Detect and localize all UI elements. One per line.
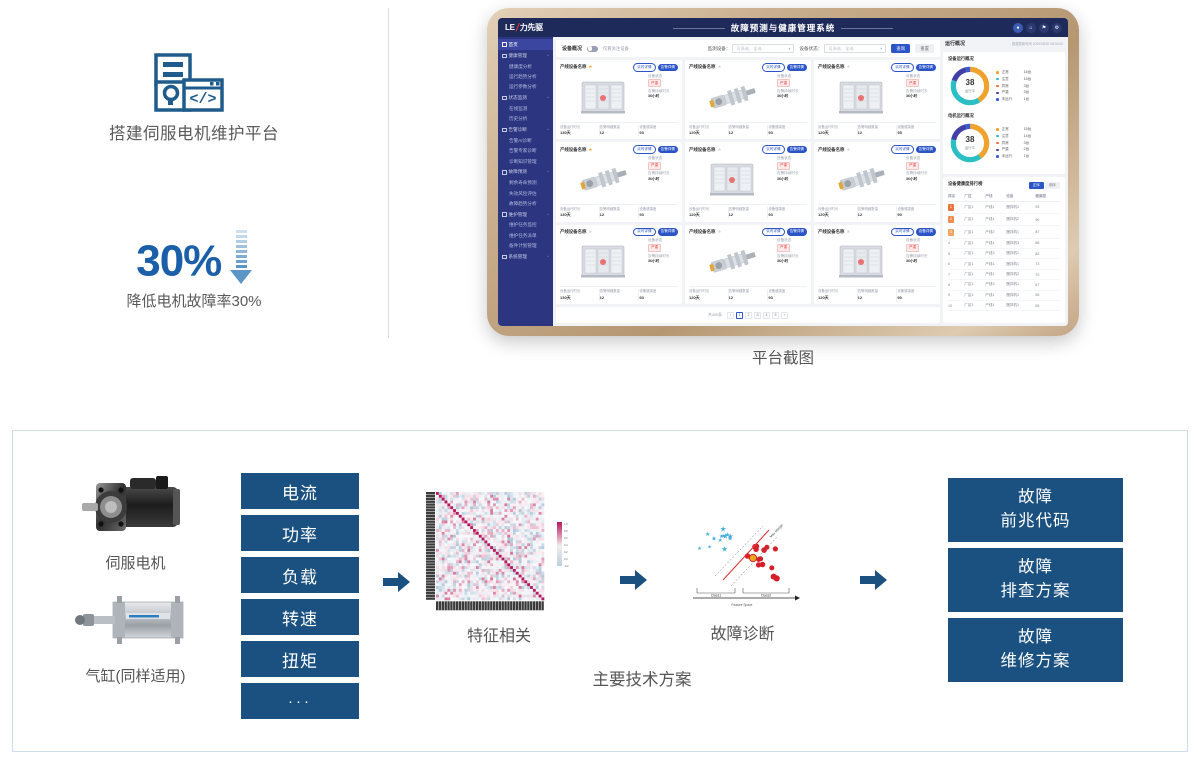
sidebar-nav[interactable]: 首页健康管理^健康度分析运行趋势分析运行参数分析状态监测^在线监测历史分析告警诊… [498, 37, 553, 326]
duration-value: 36小时 [777, 259, 807, 264]
device-name: 产线设备名称 [689, 229, 715, 235]
device-stat-value: 12 [600, 212, 637, 218]
device-card-body: 设备状态 严重 告警持续时长 36小时 [818, 156, 936, 202]
cell-line: 产线1 [985, 259, 1006, 269]
status-label: 设备状态 [906, 156, 936, 161]
device-card-footer: 设备运行时长130天告警明细数量12设备健康度93 [560, 286, 678, 301]
device-card[interactable]: 产线设备名称 ★ 实时详情 告警详情 设备状态 严重 告警持续时长 36小时 [685, 225, 811, 304]
device-status-block: 设备状态 严重 告警持续时长 36小时 [648, 156, 678, 202]
favorite-star-icon[interactable]: ★ [717, 64, 721, 70]
donut-section-title-2: 电机运行概况 [948, 113, 1060, 119]
donut-legend-1: 正常 16台 注意 15台 异常 3台 严重 3台 未运行 1台 [996, 69, 1060, 103]
alarm-detail-button[interactable]: 告警详情 [658, 64, 678, 72]
table-row[interactable]: 6 厂区1 产线1 搅拌机1 73 [948, 259, 1060, 269]
legend-value: 16台 [1024, 69, 1032, 76]
heart-icon [502, 54, 507, 59]
device-card[interactable]: 产线设备名称 ★ 实时详情 告警详情 设备状态 严重 告警持续时长 36小时 [556, 142, 682, 221]
svg-text:0.4: 0.4 [564, 543, 568, 547]
stat-caption: 降低电机故障率30% [0, 290, 388, 311]
sidebar-item[interactable]: 状态监测^ [498, 93, 553, 104]
status-badge: 严重 [906, 244, 919, 252]
device-status-block: 设备状态 严重 告警持续时长 36小时 [777, 156, 807, 202]
cell-plant: 厂区1 [964, 280, 985, 290]
cell-device: 搅拌机3 [1006, 238, 1035, 248]
svg-text:0.6: 0.6 [564, 536, 568, 540]
legend-value: 3台 [1024, 89, 1030, 96]
sidebar-subitem[interactable]: 剩余寿命预测 [498, 178, 553, 188]
favorite-star-icon[interactable]: ★ [846, 147, 850, 153]
realtime-detail-button[interactable]: 实时详情 [891, 228, 913, 237]
pagination-page[interactable]: 5 [772, 312, 779, 319]
sidebar-subitem[interactable]: 健康度分析 [498, 61, 553, 71]
table-row[interactable]: 5 厂区1 产线3 搅拌机1 82 [948, 249, 1060, 259]
device-stat-value: 120天 [689, 295, 726, 301]
device-card[interactable]: 产线设备名称 ★ 实时详情 告警详情 设备状态 严重 [556, 60, 682, 139]
device-stat: 设备运行时长120天 [689, 125, 729, 137]
svg-text:Class1: Class1 [711, 594, 721, 598]
table-row[interactable]: 2 厂区1 产线1 搅拌机2 90 [948, 213, 1060, 225]
alarm-detail-button[interactable]: 告警详情 [787, 146, 807, 154]
sidebar-subitem[interactable]: 维护任务监控 [498, 220, 553, 230]
cell-health: 70 [1035, 269, 1060, 279]
svg-text:★: ★ [707, 545, 712, 551]
device-card-footer: 设备运行时长120天告警明细数量12设备健康度93 [689, 204, 807, 219]
cell-device: 搅拌机2 [1006, 269, 1035, 279]
device-card-header: 产线设备名称 ★ 实时详情 告警详情 [818, 145, 936, 154]
device-card-body: 设备状态 严重 告警持续时长 36小时 [689, 156, 807, 202]
search-button[interactable]: 查询 [891, 44, 910, 53]
table-row[interactable]: 10 厂区1 产线1 搅拌机1 65 [948, 300, 1060, 310]
legend-item: 异常 3台 [996, 83, 1060, 90]
legend-color-dot [996, 85, 999, 88]
svg-text:0.2: 0.2 [564, 550, 568, 554]
cell-plant: 厂区1 [964, 300, 985, 310]
device-stat: 设备健康度93 [639, 289, 678, 301]
device-stat: 设备健康度93 [768, 125, 807, 137]
device-image [689, 238, 774, 284]
correlation-heatmap: 1.00.80.60.40.20.0-0.2 [424, 486, 574, 621]
output-line-2: 排查方案 [1001, 580, 1071, 604]
svm-classification-scatter: ★★★★★★★★★★★★★Max MarginClass1Class2Featu… [683, 524, 801, 617]
sidebar-subitem[interactable]: 运行参数分析 [498, 82, 553, 92]
stage-caption-feature: 特征相关 [424, 622, 574, 646]
device-card[interactable]: 产线设备名称 ★ 实时详情 告警详情 设备状态 严重 [685, 142, 811, 221]
pagination-page[interactable]: 3 [754, 312, 761, 319]
device-card[interactable]: 产线设备名称 ★ 实时详情 告警详情 设备状态 严重 [556, 225, 682, 304]
duration-value: 36小时 [648, 94, 678, 99]
device-stat: 设备健康度95 [897, 125, 936, 137]
favorite-star-icon[interactable]: ★ [588, 147, 592, 153]
ranking-table: 排名厂区产线设备健康度 1 厂区1 产线1 搅拌机1 932 厂区1 产线1 搅… [948, 192, 1060, 311]
device-card-footer: 设备运行时长120天告警明细数量12设备健康度90 [818, 286, 936, 301]
device-stat: 告警明细数量12 [858, 289, 898, 301]
sidebar-subitem[interactable]: 历史分析 [498, 114, 553, 124]
sidebar-subitem[interactable]: 失效风险评估 [498, 188, 553, 198]
sidebar-item-label: 状态监测 [509, 95, 527, 101]
sidebar-subitem[interactable]: 故障趋势分析 [498, 199, 553, 209]
table-row[interactable]: 9 厂区1 产线1 搅拌机1 56 [948, 290, 1060, 300]
table-column-header: 厂区 [964, 192, 985, 201]
status-label: 设备状态 [777, 156, 807, 161]
table-column-header: 健康度 [1035, 192, 1060, 201]
device-card-footer: 设备运行时长120天告警明细数量12设备健康度90 [818, 204, 936, 219]
chevron-up-icon: ^ [547, 128, 549, 132]
sidebar-subitem[interactable]: 运行趋势分析 [498, 72, 553, 82]
pagination-next[interactable]: › [781, 312, 788, 319]
favorite-star-icon[interactable]: ★ [846, 229, 850, 235]
table-row[interactable]: 7 厂区1 产线1 搅拌机2 70 [948, 269, 1060, 279]
output-list: 故障前兆代码故障排查方案故障维修方案 [948, 478, 1123, 682]
ranking-tabs[interactable]: 正序 倒序 [1029, 182, 1060, 189]
pagination-prev[interactable]: ‹ [727, 312, 734, 319]
app-header: LE / 力先驱 故障预测与健康管理系统 ● ⌂ ⚑ ⚙ [498, 18, 1068, 37]
realtime-detail-button[interactable]: 实时详情 [762, 228, 784, 237]
cell-device: 搅拌机1 [1006, 300, 1035, 310]
device-stat-value: 120天 [689, 212, 726, 218]
device-card-header: 产线设备名称 ★ 实时详情 告警详情 [689, 63, 807, 72]
cards-column: 设备概况 仅看关注设备 监测设备： 可多选、全选 ▾ [553, 37, 943, 326]
status-badge: 严重 [906, 79, 919, 87]
cell-plant: 厂区1 [964, 290, 985, 300]
cell-health: 82 [1035, 249, 1060, 259]
stat-value: 30% [136, 237, 221, 286]
cell-line: 产线1 [985, 300, 1006, 310]
table-row[interactable]: 8 厂区1 产线3 搅拌机1 67 [948, 280, 1060, 290]
status-filter-label: 设备状态： [799, 46, 822, 52]
cell-rank: 6 [948, 259, 964, 269]
realtime-detail-button[interactable]: 实时详情 [633, 145, 655, 154]
device-select-value: 可多选、全选 [736, 46, 761, 52]
device-card[interactable]: 产线设备名称 ★ 实时详情 告警详情 设备状态 严重 告警持续时长 36小时 [814, 142, 940, 221]
top-section: </> 搭建伺服电机维护平台 30% 降低电机故障率30% [0, 0, 1198, 390]
pagination-page[interactable]: 2 [745, 312, 752, 319]
device-status-block: 设备状态 严重 告警持续时长 36小时 [906, 74, 936, 120]
alarm-detail-button[interactable]: 设备详情 [916, 228, 936, 236]
device-name: 产线设备名称 [560, 64, 586, 70]
duration-value: 36小时 [906, 94, 936, 99]
pagination-total: 共400条 [708, 313, 722, 318]
legend-item: 注意 14台 [996, 133, 1060, 140]
device-status-donut: 38 运行中 [948, 64, 992, 108]
favorite-star-icon[interactable]: ★ [717, 229, 721, 235]
device-card-body: 设备状态 严重 告警持续时长 36小时 [560, 238, 678, 284]
duration-value: 36小时 [648, 177, 678, 182]
sidebar-item[interactable]: 健康管理^ [498, 50, 553, 61]
favorite-star-icon[interactable]: ★ [846, 64, 850, 70]
output-line-1: 故障 [1018, 486, 1053, 510]
parameter-list: 电流功率负载转速扭矩··· [241, 473, 359, 719]
sidebar-item[interactable]: 故障预测^ [498, 167, 553, 178]
sidebar-item[interactable]: 告警诊断^ [498, 124, 553, 135]
sidebar-subitem[interactable]: 维护任务派单 [498, 231, 553, 241]
right-arrow-icon [620, 569, 648, 596]
sidebar-item-label: 健康管理 [509, 53, 527, 59]
svg-text:Max Margin: Max Margin [769, 524, 784, 539]
pagination-page[interactable]: 4 [763, 312, 770, 319]
header-icon-group: ● ⌂ ⚑ ⚙ [1013, 23, 1062, 33]
ranking-card: 设备健康度排行榜 正序 倒序 排名厂区产线设备健康度 1 厂区1 产线1 搅拌机 [943, 177, 1065, 323]
pagination[interactable]: 共400条 ‹ 1 2 3 4 5 › [556, 307, 940, 323]
favorites-toggle[interactable] [587, 46, 598, 52]
cell-line: 产线1 [985, 238, 1006, 248]
pagination-page[interactable]: 1 [736, 312, 743, 319]
donut-center-1: 38 运行中 [948, 64, 992, 108]
svg-text:★: ★ [697, 546, 702, 552]
stat-block: 30% [0, 232, 388, 291]
legend-label: 异常 [1002, 140, 1024, 147]
device-status-block: 设备状态 严重 告警持续时长 36小时 [777, 74, 807, 120]
legend-color-dot [996, 128, 999, 131]
device-image [818, 74, 903, 120]
alarm-detail-button[interactable]: 告警详情 [916, 146, 936, 154]
legend-label: 未运行 [1002, 153, 1024, 160]
cell-device: 搅拌机1 [1006, 280, 1035, 290]
status-select[interactable]: 可多选、全选 ▾ [824, 44, 886, 53]
app-title: 故障预测与健康管理系统 [498, 22, 1068, 34]
device-name: 产线设备名称 [689, 64, 715, 70]
sidebar-subitem[interactable]: 告警专家诊断 [498, 146, 553, 156]
source-caption-cylinder: 气缸(同样适用) [68, 665, 203, 686]
device-stat: 告警明细数量12 [729, 125, 769, 137]
toolbar-title: 设备概况 [562, 45, 582, 52]
cell-health: 73 [1035, 259, 1060, 269]
device-stat: 告警明细数量12 [729, 207, 769, 219]
status-filter[interactable]: 设备状态： 可多选、全选 ▾ [799, 44, 886, 53]
update-time: 数据更新时间 2020/05/20 08:30:00 [1012, 41, 1063, 46]
device-card-footer: 设备运行时长120天告警明细数量12设备健康度93 [689, 286, 807, 301]
cell-rank: 8 [948, 280, 964, 290]
svg-text:★: ★ [720, 525, 727, 534]
toggle-label: 仅看关注设备 [603, 46, 629, 52]
alarm-detail-button[interactable]: 告警详情 [916, 64, 936, 72]
device-card-header: 产线设备名称 ★ 实时详情 告警详情 [818, 63, 936, 72]
sidebar-item[interactable]: 维护管理^ [498, 209, 553, 220]
alarm-detail-button[interactable]: 告警详情 [787, 228, 807, 236]
cell-line: 产线2 [985, 226, 1006, 238]
device-stat: 设备运行时长120天 [689, 207, 729, 219]
alert-icon [502, 128, 507, 133]
status-badge: 严重 [648, 244, 661, 252]
favorite-star-icon[interactable]: ★ [588, 64, 592, 70]
realtime-detail-button[interactable]: 实时详情 [762, 145, 784, 154]
cell-health: 67 [1035, 280, 1060, 290]
legend-color-dot [996, 98, 999, 101]
parameter-box: ··· [241, 683, 359, 719]
parameter-box: 转速 [241, 599, 359, 635]
status-label: 设备状态 [648, 238, 678, 243]
parameter-box: 扭矩 [241, 641, 359, 677]
legend-label: 严重 [1002, 146, 1024, 153]
realtime-detail-button[interactable]: 实时详情 [891, 63, 913, 72]
tablet-caption: 平台截图 [487, 346, 1079, 368]
legend-item: 注意 15台 [996, 76, 1060, 83]
tab-ascending[interactable]: 正序 [1029, 182, 1044, 189]
legend-item: 正常 15台 [996, 126, 1060, 133]
reset-button[interactable]: 重置 [915, 44, 934, 53]
chart-icon [502, 170, 507, 175]
status-badge: 严重 [648, 162, 661, 170]
status-select-value: 可多选、全选 [828, 46, 853, 52]
platform-caption: 搭建伺服电机维护平台 [0, 120, 388, 144]
svg-text:Class2: Class2 [761, 594, 771, 598]
status-badge: 严重 [777, 244, 790, 252]
home-icon[interactable]: ⌂ [1026, 23, 1036, 33]
status-badge: 严重 [906, 162, 919, 170]
device-name: 产线设备名称 [560, 147, 586, 153]
settings-icon [502, 255, 507, 260]
device-card-header: 产线设备名称 ★ 实时详情 告警详情 [560, 228, 678, 237]
device-image [689, 74, 774, 120]
cell-plant: 厂区1 [964, 259, 985, 269]
device-stat-value: 120天 [818, 295, 855, 301]
device-card-header: 产线设备名称 ★ 实时详情 告警详情 [560, 145, 678, 154]
device-stat-value: 12 [858, 130, 895, 136]
cell-line: 产线3 [985, 280, 1006, 290]
cell-line: 产线1 [985, 269, 1006, 279]
parameter-box: 负载 [241, 557, 359, 593]
device-card[interactable]: 产线设备名称 ★ 实时详情 告警详情 设备状态 严重 告警持续时长 36小时 [685, 60, 811, 139]
legend-color-dot [996, 71, 999, 74]
cell-line: 产线3 [985, 249, 1006, 259]
cell-rank: 3 [948, 226, 964, 238]
alarm-detail-button[interactable]: 告警详情 [658, 228, 678, 236]
alarm-detail-button[interactable]: 告警详情 [658, 146, 678, 154]
device-card-body: 设备状态 严重 告警持续时长 36小时 [818, 238, 936, 284]
legend-color-dot [996, 155, 999, 158]
svg-text:-0.2: -0.2 [564, 564, 569, 568]
favorite-star-icon[interactable]: ★ [717, 147, 721, 153]
legend-item: 严重 3台 [996, 89, 1060, 96]
status-label: 设备状态 [777, 74, 807, 79]
table-column-header: 产线 [985, 192, 1006, 201]
highlights-panel: </> 搭建伺服电机维护平台 30% 降低电机故障率30% [0, 0, 388, 360]
device-stat: 设备健康度90 [897, 289, 936, 301]
device-select[interactable]: 可多选、全选 ▾ [732, 44, 794, 53]
down-arrow-icon [230, 230, 252, 289]
device-image [560, 156, 645, 202]
source-cylinder: 气缸(同样适用) [68, 579, 203, 686]
device-filter[interactable]: 监测设备： 可多选、全选 ▾ [707, 44, 794, 53]
duration-value: 36小时 [777, 177, 807, 182]
cell-health: 87 [1035, 226, 1060, 238]
table-row[interactable]: 1 厂区1 产线1 搅拌机1 93 [948, 201, 1060, 213]
output-box: 故障维修方案 [948, 618, 1123, 682]
legend-label: 注意 [1002, 76, 1024, 83]
device-name: 产线设备名称 [818, 147, 844, 153]
legend-value: 3台 [1024, 140, 1030, 147]
device-stat: 设备运行时长130天 [560, 289, 600, 301]
favorite-star-icon[interactable]: ★ [588, 229, 592, 235]
cell-device: 搅拌机1 [1006, 226, 1035, 238]
device-stat-value: 12 [600, 130, 637, 136]
cell-plant: 厂区1 [964, 226, 985, 238]
device-card[interactable]: 产线设备名称 ★ 实时详情 设备详情 设备状态 严重 [814, 225, 940, 304]
bell-icon[interactable]: ⚑ [1039, 23, 1049, 33]
legend-item: 未运行 1台 [996, 96, 1060, 103]
sidebar-subitem[interactable]: 在线监测 [498, 104, 553, 114]
status-badge: 严重 [648, 79, 661, 87]
right-arrow-icon [860, 569, 888, 596]
cell-plant: 厂区1 [964, 201, 985, 213]
sidebar-subitem[interactable]: 诊断知识管理 [498, 156, 553, 166]
motor-status-donut: 38 运行中 [948, 121, 992, 165]
table-column-header: 设备 [1006, 192, 1035, 201]
cell-rank: 7 [948, 269, 964, 279]
realtime-detail-button[interactable]: 实时详情 [633, 63, 655, 72]
donut-legend-2: 正常 15台 注意 14台 异常 3台 严重 2台 未运行 1台 [996, 126, 1060, 160]
chevron-up-icon: ^ [547, 255, 549, 259]
device-card-footer: 设备运行时长120天告警明细数量12设备健康度95 [818, 122, 936, 137]
realtime-detail-button[interactable]: 实时详情 [633, 228, 655, 237]
device-status-block: 设备状态 严重 告警持续时长 36小时 [648, 238, 678, 284]
parameter-box: 功率 [241, 515, 359, 551]
device-image [560, 238, 645, 284]
legend-value: 15台 [1024, 76, 1032, 83]
sidebar-subitem[interactable]: 备件计划管理 [498, 241, 553, 251]
legend-label: 正常 [1002, 126, 1024, 133]
cell-rank: 5 [948, 249, 964, 259]
sidebar-item-label: 系统管理 [509, 254, 527, 260]
device-card[interactable]: 产线设备名称 ★ 实时详情 告警详情 设备状态 严重 [814, 60, 940, 139]
table-row[interactable]: 4 厂区1 产线1 搅拌机3 86 [948, 238, 1060, 248]
legend-value: 1台 [1024, 96, 1030, 103]
device-card-body: 设备状态 严重 告警持续时长 36小时 [818, 74, 936, 120]
tab-descending[interactable]: 倒序 [1045, 182, 1060, 189]
right-arrow-icon [383, 571, 411, 598]
device-stat-value: 93 [639, 130, 676, 136]
legend-label: 未运行 [1002, 96, 1024, 103]
wrench-icon [502, 212, 507, 217]
main-caption: 主要技术方案 [497, 666, 787, 690]
sidebar-item[interactable]: 首页 [498, 39, 553, 50]
legend-color-dot [996, 92, 999, 95]
rank-medal: 3 [948, 229, 954, 236]
device-status-block: 设备状态 严重 告警持续时长 36小时 [648, 74, 678, 120]
duration-value: 36小时 [648, 259, 678, 264]
donut-center-2: 38 运行中 [948, 121, 992, 165]
donut-section-title-1: 设备运行概况 [948, 56, 1060, 62]
donut-block-2: 38 运行中 正常 15台 注意 14台 异常 3台 严重 2台 未运行 1台 [948, 121, 1060, 165]
device-stat: 设备运行时长120天 [689, 289, 729, 301]
legend-label: 注意 [1002, 133, 1024, 140]
chevron-up-icon: ^ [547, 54, 549, 58]
table-column-header: 排名 [948, 192, 964, 201]
main-area: 设备概况 仅看关注设备 监测设备： 可多选、全选 ▾ [553, 37, 1068, 326]
alarm-detail-button[interactable]: 告警详情 [787, 64, 807, 72]
cell-line: 产线1 [985, 201, 1006, 213]
chevron-up-icon: ^ [547, 170, 549, 174]
realtime-detail-button[interactable]: 实时详情 [762, 63, 784, 72]
gear-icon[interactable]: ⚙ [1052, 23, 1062, 33]
user-icon[interactable]: ● [1013, 23, 1023, 33]
donut-value: 38 [966, 136, 975, 144]
device-stat-value: 12 [729, 130, 766, 136]
sidebar-item-label: 告警诊断 [509, 127, 527, 133]
legend-value: 15台 [1024, 126, 1032, 133]
device-card-header: 产线设备名称 ★ 实时详情 告警详情 [560, 63, 678, 72]
sidebar-subitem[interactable]: 告警AI诊断 [498, 136, 553, 146]
tablet-frame: LE / 力先驱 故障预测与健康管理系统 ● ⌂ ⚑ ⚙ 首页健康管理^健康度分… [487, 8, 1079, 336]
cell-plant: 厂区1 [964, 238, 985, 248]
device-card-body: 设备状态 严重 告警持续时长 36小时 [689, 74, 807, 120]
realtime-detail-button[interactable]: 实时详情 [891, 145, 913, 154]
device-card-body: 设备状态 严重 告警持续时长 36小时 [560, 156, 678, 202]
device-status-block: 设备状态 严重 告警持续时长 36小时 [906, 238, 936, 284]
legend-color-dot [996, 135, 999, 138]
table-row[interactable]: 3 厂区1 产线2 搅拌机1 87 [948, 226, 1060, 238]
sidebar-item[interactable]: 系统管理^ [498, 251, 553, 262]
output-line-2: 维修方案 [1001, 650, 1071, 674]
